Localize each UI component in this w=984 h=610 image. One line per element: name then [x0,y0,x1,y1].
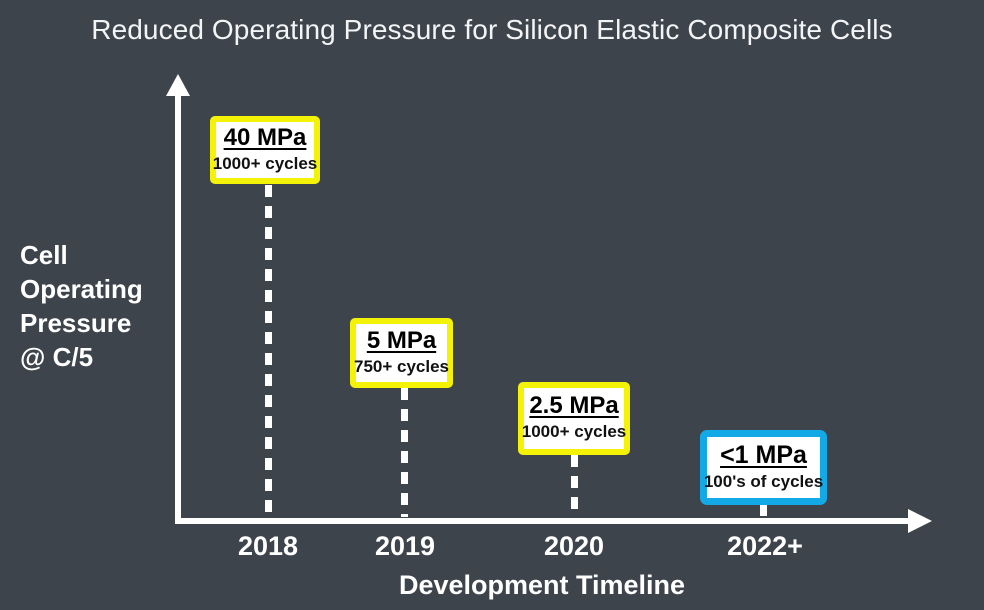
leader-line-2022 [760,504,767,518]
page-title: Reduced Operating Pressure for Silicon E… [0,14,984,46]
y-axis-label-line-3: Pressure [20,306,170,340]
leader-line-2018 [265,185,272,517]
y-axis-label: Cell Operating Pressure @ C/5 [20,238,170,374]
callout-cycles-2020: 1000+ cycles [522,422,626,442]
x-axis-line [175,518,912,524]
callout-cycles-2022: 100's of cycles [704,472,823,492]
data-callout-2019[interactable]: 5 MPa 750+ cycles [350,318,453,388]
data-callout-2022[interactable]: <1 MPa 100's of cycles [700,430,827,505]
callout-value-2020: 2.5 MPa [529,392,618,420]
x-tick-2022: 2022+ [695,531,835,562]
y-axis-label-line-1: Cell [20,238,170,272]
y-axis-line [175,92,181,524]
y-axis-label-line-4: @ C/5 [20,340,170,374]
callout-cycles-2019: 750+ cycles [354,357,449,377]
x-tick-2019: 2019 [335,531,475,562]
leader-line-2020 [571,455,578,517]
callout-value-2019: 5 MPa [367,327,436,355]
leader-line-2019 [401,388,408,517]
x-tick-2018: 2018 [198,531,338,562]
callout-cycles-2018: 1000+ cycles [213,154,317,174]
y-axis-label-line-2: Operating [20,272,170,306]
y-axis-arrow-icon [166,74,190,96]
x-axis-arrow-icon [908,509,932,533]
data-callout-2020[interactable]: 2.5 MPa 1000+ cycles [518,382,630,455]
x-tick-2020: 2020 [504,531,644,562]
callout-value-2018: 40 MPa [224,124,307,152]
x-axis-title: Development Timeline [0,570,984,601]
callout-value-2022: <1 MPa [720,441,807,470]
slide-canvas: Reduced Operating Pressure for Silicon E… [0,0,984,610]
data-callout-2018[interactable]: 40 MPa 1000+ cycles [210,116,320,184]
